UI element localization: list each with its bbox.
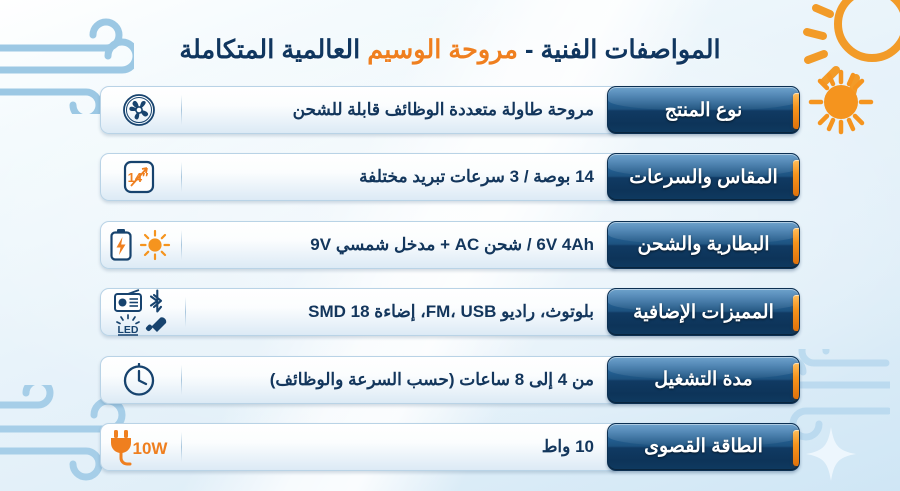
spec-value-max-power: 10 واط 10W — [100, 423, 619, 471]
table-row: مدة التشغيل من 4 إلى 8 ساعات (حسب السرعة… — [100, 356, 800, 404]
cell-divider — [181, 432, 182, 462]
spec-value-text: من 4 إلى 8 ساعات (حسب السرعة والوظائف) — [186, 370, 594, 390]
sun-icon — [139, 229, 171, 261]
table-row: نوع المنتج مروحة طاولة متعددة الوظائف قا… — [100, 86, 800, 134]
icon-group — [101, 228, 177, 262]
table-row: المميزات الإضافية بلوتوث، راديو FM، USB،… — [100, 288, 800, 336]
led-icon: LED — [113, 314, 143, 336]
infographic-sheet: المواصفات الفنية - مروحة الوسيم العالمية… — [0, 0, 900, 491]
spec-rows: نوع المنتج مروحة طاولة متعددة الوظائف قا… — [18, 86, 882, 475]
size-14-inch-icon: 14″ — [121, 159, 157, 195]
spec-value-size-speeds: 14 بوصة / 3 سرعات تبريد مختلفة 14″ — [100, 153, 619, 201]
spec-label-text: الطاقة القصوى — [644, 435, 763, 458]
spec-label-product-type: نوع المنتج — [607, 86, 800, 134]
battery-icon — [108, 228, 134, 262]
page-title: المواصفات الفنية - مروحة الوسيم العالمية… — [18, 14, 882, 86]
cell-divider — [185, 297, 186, 327]
spec-value-product-type: مروحة طاولة متعددة الوظائف قابلة للشحن — [100, 86, 619, 134]
table-row: البطارية والشحن 6V 4Ah / شحن AC + مدخل ش… — [100, 221, 800, 269]
icon-group — [101, 363, 177, 397]
cell-divider — [181, 230, 182, 260]
fan-icon — [122, 93, 156, 127]
spec-value-extra-features: بلوتوث، راديو FM، USB، إضاءة 18 SMD — [100, 288, 619, 336]
icon-group: 10W — [101, 428, 177, 466]
table-row: المقاس والسرعات 14 بوصة / 3 سرعات تبريد … — [100, 153, 800, 201]
cell-divider — [181, 365, 182, 395]
icon-group — [101, 93, 177, 127]
spec-label-size-speeds: المقاس والسرعات — [607, 153, 800, 201]
spec-label-text: نوع المنتج — [665, 99, 743, 122]
spec-value-battery-charging: 6V 4Ah / شحن AC + مدخل شمسي 9V — [100, 221, 619, 269]
spec-value-text: 14 بوصة / 3 سرعات تبريد مختلفة — [186, 167, 594, 187]
orange-accent-tab — [793, 228, 800, 264]
spec-value-text: مروحة طاولة متعددة الوظائف قابلة للشحن — [186, 100, 594, 120]
spec-label-text: مدة التشغيل — [654, 368, 752, 391]
spec-label-max-power: الطاقة القصوى — [607, 423, 800, 471]
cell-divider — [181, 95, 182, 125]
spec-value-text: بلوتوث، راديو FM، USB، إضاءة 18 SMD — [190, 302, 594, 322]
usb-icon — [145, 316, 169, 334]
title-highlight: مروحة الوسيم — [367, 36, 518, 64]
title-prefix: المواصفات الفنية - — [518, 36, 721, 64]
radio-icon — [113, 289, 143, 313]
clock-icon — [122, 363, 156, 397]
power-plug-icon: 10W — [108, 428, 170, 466]
orange-accent-tab — [793, 363, 800, 399]
bluetooth-icon — [148, 289, 166, 313]
spec-label-extra-features: المميزات الإضافية — [607, 288, 800, 336]
spec-label-text: المقاس والسرعات — [629, 166, 778, 189]
spec-value-text: 6V 4Ah / شحن AC + مدخل شمسي 9V — [186, 235, 594, 255]
table-row: الطاقة القصوى 10 واط — [100, 423, 800, 471]
title-suffix: العالمية المتكاملة — [179, 36, 367, 64]
svg-text:10W: 10W — [133, 439, 169, 458]
spec-label-runtime: مدة التشغيل — [607, 356, 800, 404]
cell-divider — [181, 162, 182, 192]
orange-accent-tab — [793, 430, 800, 466]
spec-value-text: 10 واط — [186, 437, 594, 457]
orange-accent-tab — [793, 93, 800, 129]
spec-label-battery-charging: البطارية والشحن — [607, 221, 800, 269]
spec-label-text: المميزات الإضافية — [633, 301, 774, 324]
spec-value-runtime: من 4 إلى 8 ساعات (حسب السرعة والوظائف) — [100, 356, 619, 404]
icon-group: 14″ — [101, 159, 177, 195]
spec-label-text: البطارية والشحن — [637, 233, 769, 256]
icon-group: LED — [101, 289, 181, 336]
orange-accent-tab — [793, 160, 800, 196]
orange-accent-tab — [793, 295, 800, 331]
svg-text:14″: 14″ — [128, 170, 149, 185]
